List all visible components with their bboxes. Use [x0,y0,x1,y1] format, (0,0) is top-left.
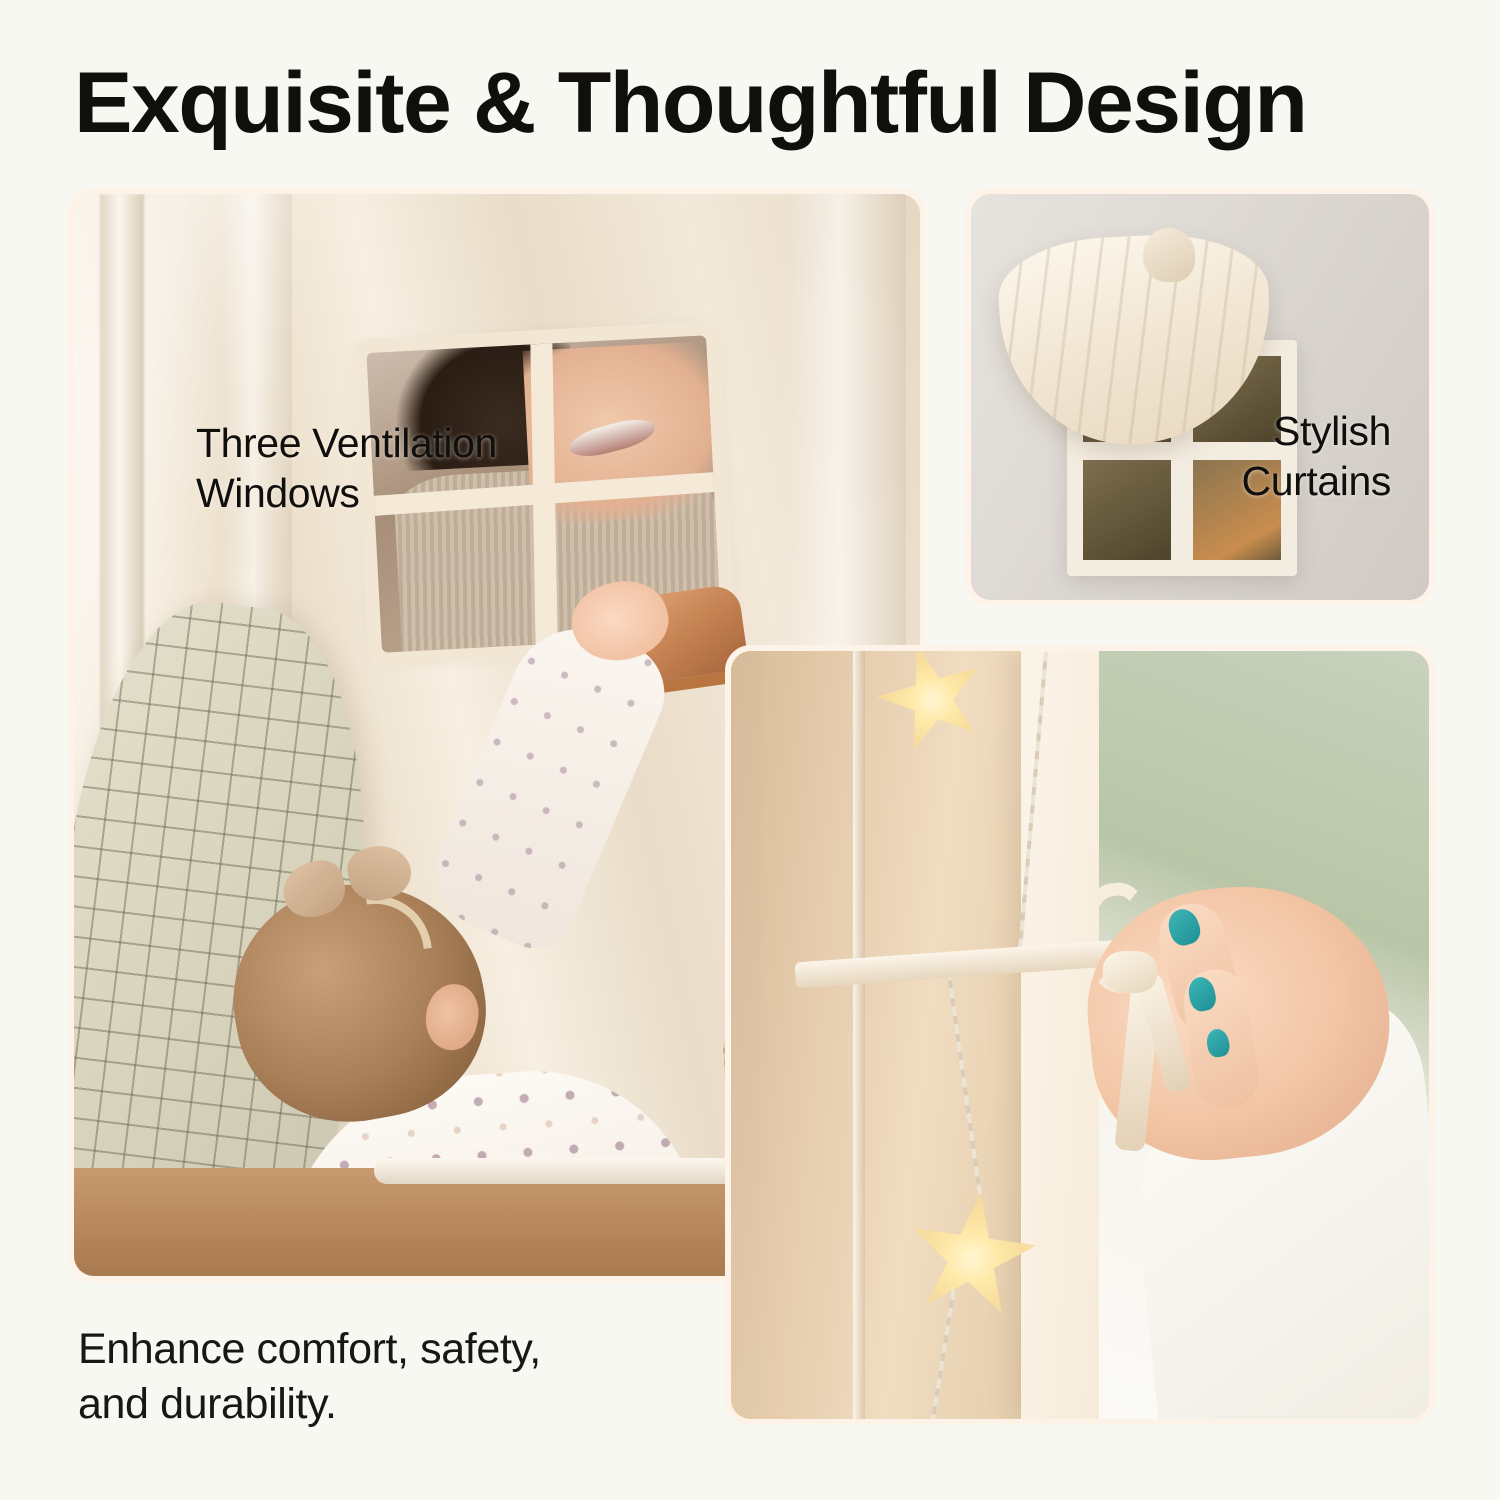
tent-seam [853,651,865,1419]
bow-knot [1103,951,1157,993]
footer-caption: Enhance comfort, safety, and durability. [78,1322,738,1432]
curtain-tie-knot [1143,228,1195,282]
photo-stylish-curtains [971,194,1429,600]
label-ventilation-windows: Three Ventilation Windows [196,418,497,518]
window-pane [1083,460,1171,560]
tent-panel-left [761,651,1051,1419]
photo-tie-down-rope [731,651,1429,1419]
panel-stylish-curtains: Stylish Curtains [965,188,1435,606]
infographic-page: Exquisite & Thoughtful Design [0,0,1500,1500]
label-stylish-curtains: Stylish Curtains [1242,406,1391,506]
panel-tie-down-rope: Tie-Down Rope [725,645,1435,1425]
page-title: Exquisite & Thoughtful Design [74,58,1461,148]
